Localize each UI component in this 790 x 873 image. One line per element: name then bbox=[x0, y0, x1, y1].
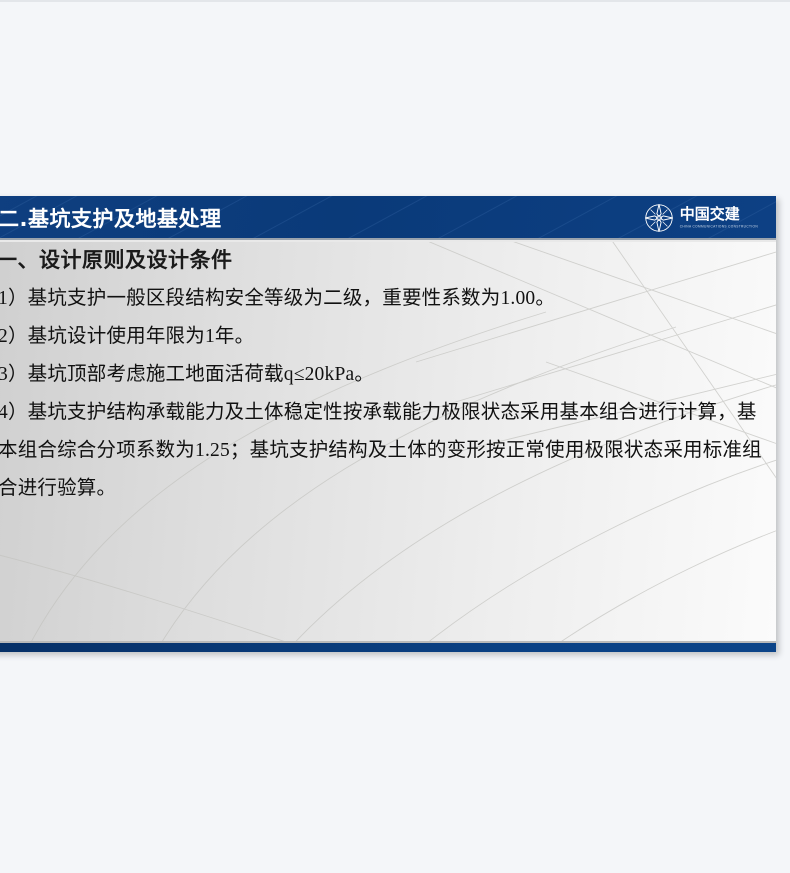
slide-footer-bar bbox=[0, 643, 776, 652]
compass-emblem-icon bbox=[644, 203, 674, 233]
section-heading: 一、设计原则及设计条件 bbox=[0, 244, 233, 274]
body-paragraph-1: 1）基坑支护一般区段结构安全等级为二级，重要性系数为1.00。 bbox=[0, 280, 763, 318]
title-bar-underline bbox=[0, 238, 776, 240]
page-top-divider bbox=[0, 0, 790, 2]
presentation-slide: 二.基坑支护及地基处理 中国交建 bbox=[0, 196, 776, 652]
company-logo: 中国交建 CHINA COMMUNICATIONS CONSTRUCTION bbox=[644, 201, 758, 235]
slide-title-bar: 二.基坑支护及地基处理 中国交建 bbox=[0, 196, 776, 240]
logo-english-name: CHINA COMMUNICATIONS CONSTRUCTION bbox=[680, 225, 758, 229]
body-paragraph-2: 2）基坑设计使用年限为1年。 bbox=[0, 318, 763, 356]
slide-body: 一、设计原则及设计条件 1）基坑支护一般区段结构安全等级为二级，重要性系数为1.… bbox=[0, 242, 776, 643]
body-paragraph-4: 4）基坑支护结构承载能力及土体稳定性按承载能力极限状态采用基本组合进行计算，基本… bbox=[0, 394, 763, 508]
logo-wordmark: 中国交建 CHINA COMMUNICATIONS CONSTRUCTION bbox=[680, 207, 758, 228]
logo-chinese-name: 中国交建 bbox=[680, 207, 758, 222]
body-paragraph-3: 3）基坑顶部考虑施工地面活荷载q≤20kPa。 bbox=[0, 356, 763, 394]
page-title: 二.基坑支护及地基处理 bbox=[0, 203, 221, 233]
